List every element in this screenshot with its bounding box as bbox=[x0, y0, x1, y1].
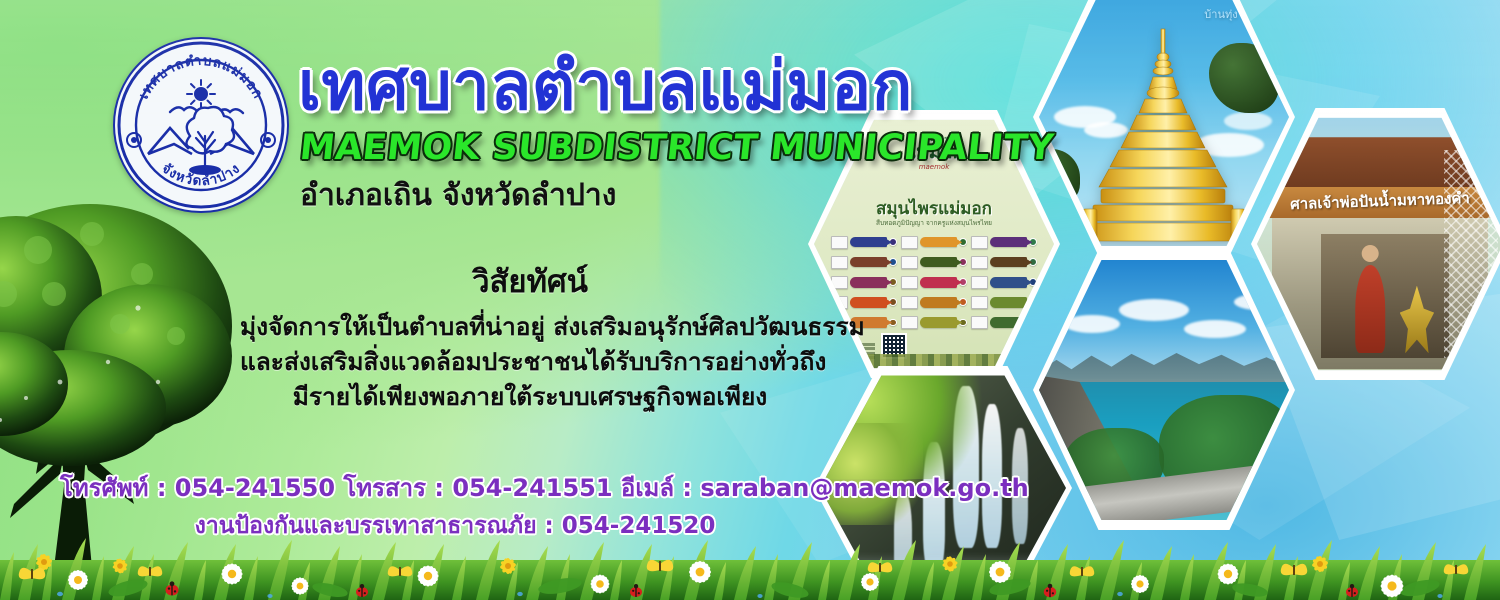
seal-sun-icon bbox=[187, 80, 215, 108]
product-item bbox=[971, 314, 1037, 331]
page-subtitle: อำเภอเถิน จังหวัดลำปาง bbox=[300, 172, 616, 219]
vision-statement: วิสัยทัศน์ มุ่งจัดการให้เป็นตำบลที่น่าอย… bbox=[240, 256, 820, 414]
dam-scene bbox=[1039, 256, 1289, 524]
hex-photo-dam-reservoir[interactable] bbox=[1039, 256, 1289, 524]
shrine-interior bbox=[1321, 234, 1449, 359]
golden-pagoda-structure bbox=[1079, 27, 1249, 242]
product-item bbox=[901, 314, 967, 331]
page-title-thai: เทศบาลตำบลแม่มอก bbox=[298, 52, 913, 120]
vision-heading: วิสัยทัศน์ bbox=[240, 256, 820, 306]
product-item bbox=[831, 274, 897, 291]
product-item bbox=[831, 234, 897, 251]
herbal-poster-subtitle: สืบทอดภูมิปัญญา จากครูแห่งสมุนไพรไทย bbox=[814, 218, 1054, 228]
shrine-wire-mesh bbox=[1444, 150, 1498, 358]
product-item bbox=[901, 294, 967, 311]
product-item bbox=[971, 254, 1037, 271]
vision-line-3: มีรายได้เพียงพอภายใต้ระบบเศรษฐกิจพอเพียง bbox=[240, 380, 820, 415]
vision-line-1: มุ่งจัดการให้เป็นตำบลที่น่าอยู่ ส่งเสริม… bbox=[240, 310, 820, 345]
product-item bbox=[971, 234, 1037, 251]
product-item bbox=[901, 234, 967, 251]
product-item bbox=[901, 254, 967, 271]
page-title-english: MAEMOK SUBDISTRICT MUNICIPALITY bbox=[298, 128, 1056, 168]
cloud bbox=[1119, 299, 1189, 321]
shrine-statue bbox=[1355, 265, 1385, 353]
product-item bbox=[971, 274, 1037, 291]
product-item bbox=[901, 274, 967, 291]
product-item bbox=[831, 254, 897, 271]
municipality-seal: เทศบาลตำบลแม่มอก จังหวัดลำปาง bbox=[112, 36, 290, 214]
contact-line-primary: โทรศัพท์ : 054-241550 โทรสาร : 054-24155… bbox=[60, 470, 850, 508]
vision-line-2: และส่งเสริมสิ่งแวดล้อมประชาชนได้รับบริกา… bbox=[240, 345, 820, 380]
municipality-banner: สมุนไพร แม่มอก maemok สมุนไพรแม่มอก สืบท… bbox=[0, 0, 1500, 600]
cloud bbox=[1234, 294, 1282, 310]
grass-flower-border bbox=[0, 514, 1500, 600]
